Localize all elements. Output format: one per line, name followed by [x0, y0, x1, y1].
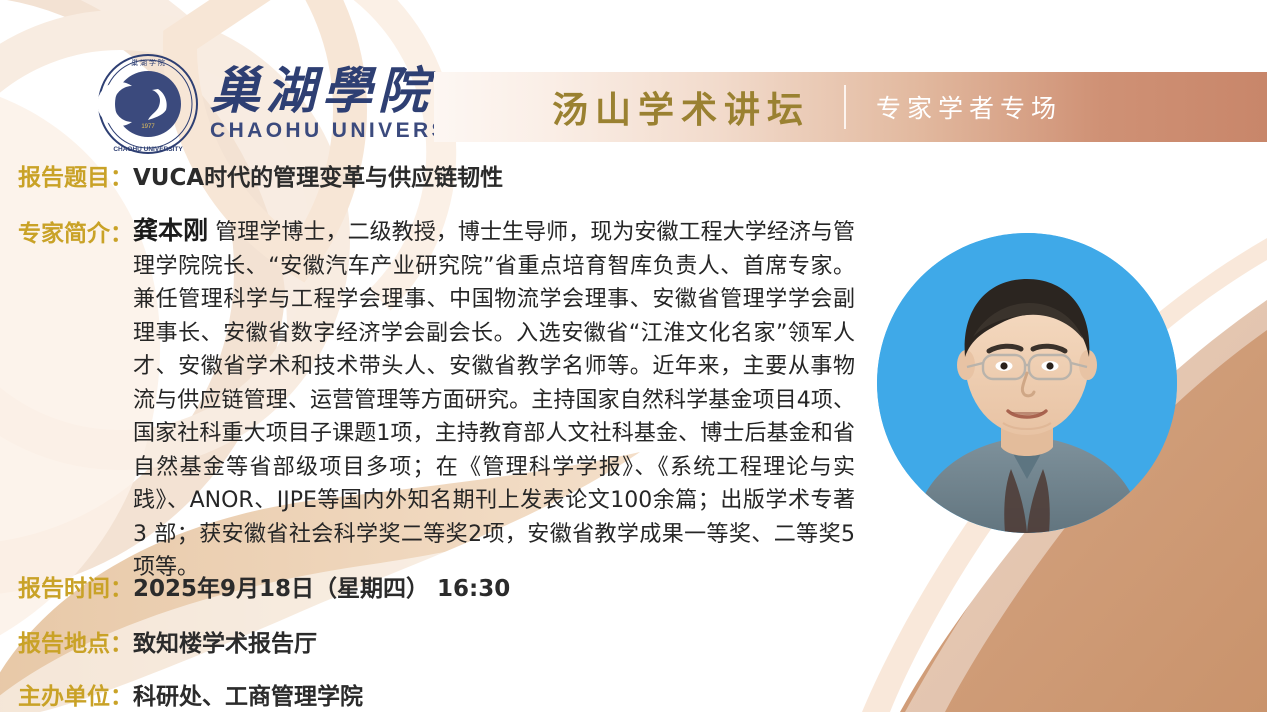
report-title-value: VUCA时代的管理变革与供应链韧性	[133, 158, 503, 192]
university-logo-block: 1977 巢 湖 学 院 CHAOHU UNIVERSITY 巢湖學院 CHAO…	[96, 52, 492, 156]
banner-divider	[844, 85, 846, 129]
speaker-bio-paragraph: 管理学博士，二级教授，博士生导师，现为安徽工程大学经济与管理学院院长、“安徽汽车…	[133, 220, 855, 580]
speaker-bio-row: 专家简介： 龚本刚 管理学博士，二级教授，博士生导师，现为安徽工程大学经济与管理…	[18, 214, 888, 585]
speaker-portrait-photo	[877, 233, 1177, 533]
university-crest-icon: 1977 巢 湖 学 院 CHAOHU UNIVERSITY	[96, 52, 200, 156]
organizer-value: 科研处、工商管理学院	[133, 677, 363, 711]
speaker-bio-text: 龚本刚 管理学博士，二级教授，博士生导师，现为安徽工程大学经济与管理学院院长、“…	[133, 214, 855, 585]
report-time-label: 报告时间：	[18, 569, 133, 603]
banner-main-title: 汤山学术讲坛	[552, 81, 810, 133]
speaker-portrait	[877, 233, 1177, 533]
banner-subtitle: 专家学者专场	[876, 89, 1062, 125]
svg-text:巢 湖 学 院: 巢 湖 学 院	[131, 58, 165, 67]
report-place-value: 致知楼学术报告厅	[133, 624, 317, 658]
speaker-bio-label: 专家简介：	[18, 214, 133, 248]
lecture-series-banner: 汤山学术讲坛 专家学者专场	[434, 72, 1267, 142]
report-title-label: 报告题目：	[18, 158, 133, 192]
svg-text:CHAOHU UNIVERSITY: CHAOHU UNIVERSITY	[113, 146, 183, 153]
university-name-cn: 巢湖學院	[210, 65, 434, 118]
svg-text:1977: 1977	[141, 124, 155, 130]
organizer-label: 主办单位：	[18, 677, 133, 711]
report-title-row: 报告题目： VUCA时代的管理变革与供应链韧性	[18, 158, 503, 192]
report-place-row: 报告地点： 致知楼学术报告厅	[18, 624, 317, 658]
report-time-value: 2025年9月18日（星期四） 16:30	[133, 569, 510, 603]
speaker-name: 龚本刚	[133, 216, 208, 245]
lecture-poster: 1977 巢 湖 学 院 CHAOHU UNIVERSITY 巢湖學院 CHAO…	[0, 0, 1267, 712]
poster-header: 1977 巢 湖 学 院 CHAOHU UNIVERSITY 巢湖學院 CHAO…	[0, 0, 1267, 150]
organizer-row: 主办单位： 科研处、工商管理学院	[18, 677, 363, 711]
report-place-label: 报告地点：	[18, 624, 133, 658]
report-time-row: 报告时间： 2025年9月18日（星期四） 16:30	[18, 569, 510, 603]
